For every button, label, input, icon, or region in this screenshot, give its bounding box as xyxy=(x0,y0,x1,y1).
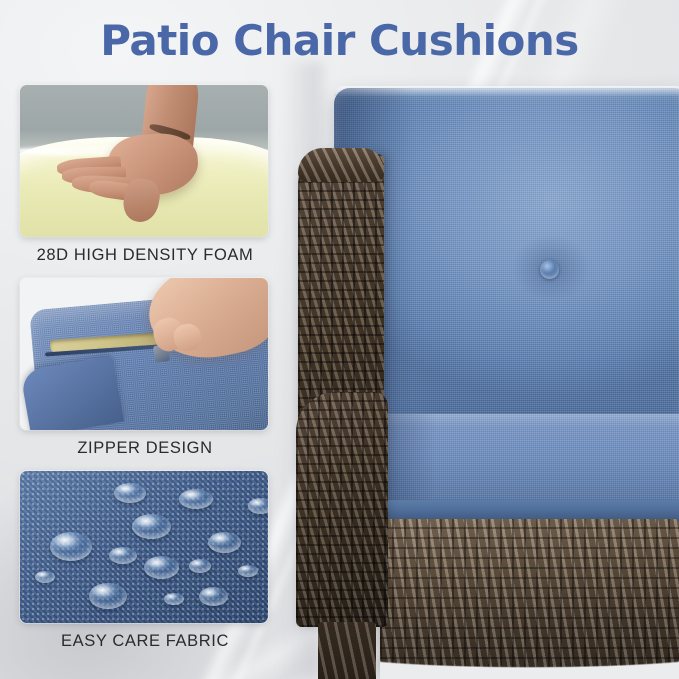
feature-item-foam: 28D HIGH DENSITY FOAM xyxy=(20,85,270,268)
feature-thumbnail-foam xyxy=(20,85,268,237)
chair-base-bottom-curve xyxy=(380,648,679,679)
chair-arm-front-panel xyxy=(296,392,388,627)
feature-item-zipper: ZIPPER DESIGN xyxy=(20,278,270,461)
water-droplet xyxy=(109,547,136,564)
feature-thumbnail-zipper xyxy=(20,278,268,430)
chair-base-wicker xyxy=(380,519,679,669)
cushion-tuft-button xyxy=(540,260,559,279)
feature-item-fabric: EASY CARE FABRIC xyxy=(20,471,270,654)
water-droplet xyxy=(179,489,214,509)
water-droplet xyxy=(208,532,240,553)
feature-caption-fabric: EASY CARE FABRIC xyxy=(20,623,270,654)
feature-list: 28D HIGH DENSITY FOAM ZIPPER DESIGN xyxy=(20,85,270,664)
product-photo-chair xyxy=(298,62,679,679)
fabric-photo xyxy=(20,471,268,623)
water-droplet xyxy=(89,583,126,609)
feature-caption-foam: 28D HIGH DENSITY FOAM xyxy=(20,237,270,268)
water-droplet xyxy=(189,559,211,573)
foam-photo xyxy=(20,85,268,237)
zipper-photo xyxy=(20,278,268,430)
chair-leg xyxy=(318,622,376,679)
chair-armrest-top xyxy=(298,148,384,182)
water-droplet xyxy=(144,556,179,579)
water-droplet xyxy=(50,532,92,561)
feature-caption-zipper: ZIPPER DESIGN xyxy=(20,430,270,461)
water-droplet xyxy=(164,593,184,605)
page-title: Patio Chair Cushions xyxy=(0,16,679,65)
feature-thumbnail-fabric xyxy=(20,471,268,623)
water-droplet xyxy=(248,498,268,513)
